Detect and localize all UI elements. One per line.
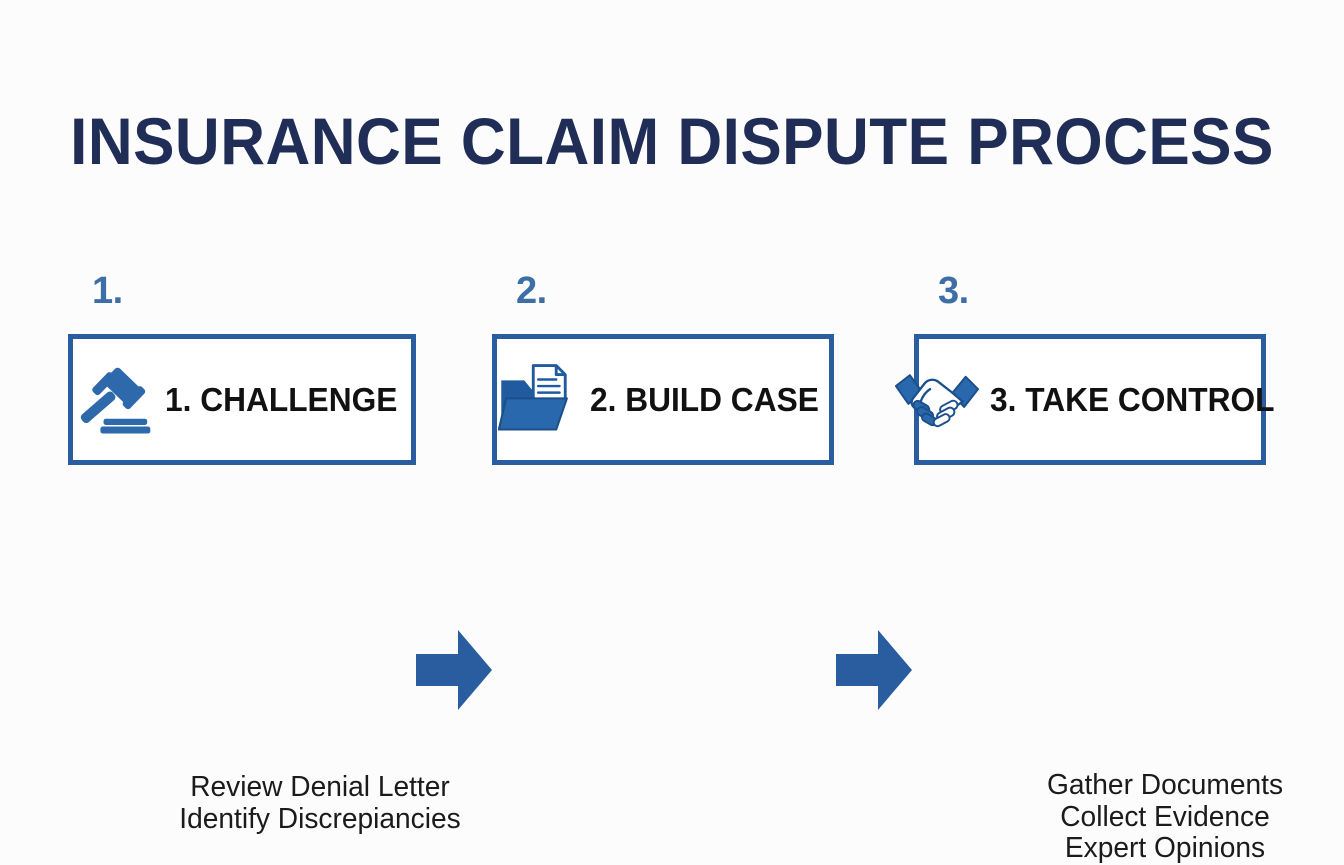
folder-documents-icon bbox=[498, 362, 580, 438]
step-number-3: 3. bbox=[938, 272, 969, 310]
caption-line: Expert Opinions bbox=[989, 833, 1340, 865]
step-box-challenge[interactable]: 1. CHALLENGE bbox=[68, 334, 416, 465]
handshake-icon bbox=[894, 369, 980, 431]
gavel-icon bbox=[77, 364, 155, 436]
step-label-take-control: 3. TAKE CONTROL bbox=[990, 381, 1275, 419]
caption-line: Identify Discrepiancies bbox=[136, 804, 505, 836]
caption-line: Collect Evidence bbox=[989, 802, 1340, 834]
step-caption-1: Review Denial Letter Identify Discrepian… bbox=[136, 772, 505, 835]
step-label-challenge: 1. CHALLENGE bbox=[165, 381, 397, 419]
insurance-claim-dispute-infographic: INSURANCE CLAIM DISPUTE PROCESS 1. bbox=[0, 0, 1344, 768]
arrow-step2-to-step3-icon bbox=[836, 624, 912, 716]
process-step-3: 3. bbox=[914, 272, 1266, 472]
process-step-1: 1. bbox=[68, 272, 416, 472]
caption-line: Review Denial Letter bbox=[136, 772, 505, 804]
step-box-take-control[interactable]: 3. TAKE CONTROL bbox=[914, 334, 1266, 465]
process-flow: 1. bbox=[0, 272, 1344, 472]
step-box-build-case[interactable]: 2. BUILD CASE bbox=[492, 334, 834, 465]
step-number-1: 1. bbox=[92, 272, 123, 310]
step-label-build-case: 2. BUILD CASE bbox=[590, 381, 819, 419]
page-title: INSURANCE CLAIM DISPUTE PROCESS bbox=[40, 108, 1303, 174]
step-number-2: 2. bbox=[516, 272, 547, 310]
arrow-step1-to-step2-icon bbox=[416, 624, 492, 716]
process-step-2: 2. bbox=[492, 272, 834, 472]
step-caption-2: Gather Documents Collect Evidence Expert… bbox=[989, 770, 1340, 865]
caption-line: Gather Documents bbox=[989, 770, 1340, 802]
